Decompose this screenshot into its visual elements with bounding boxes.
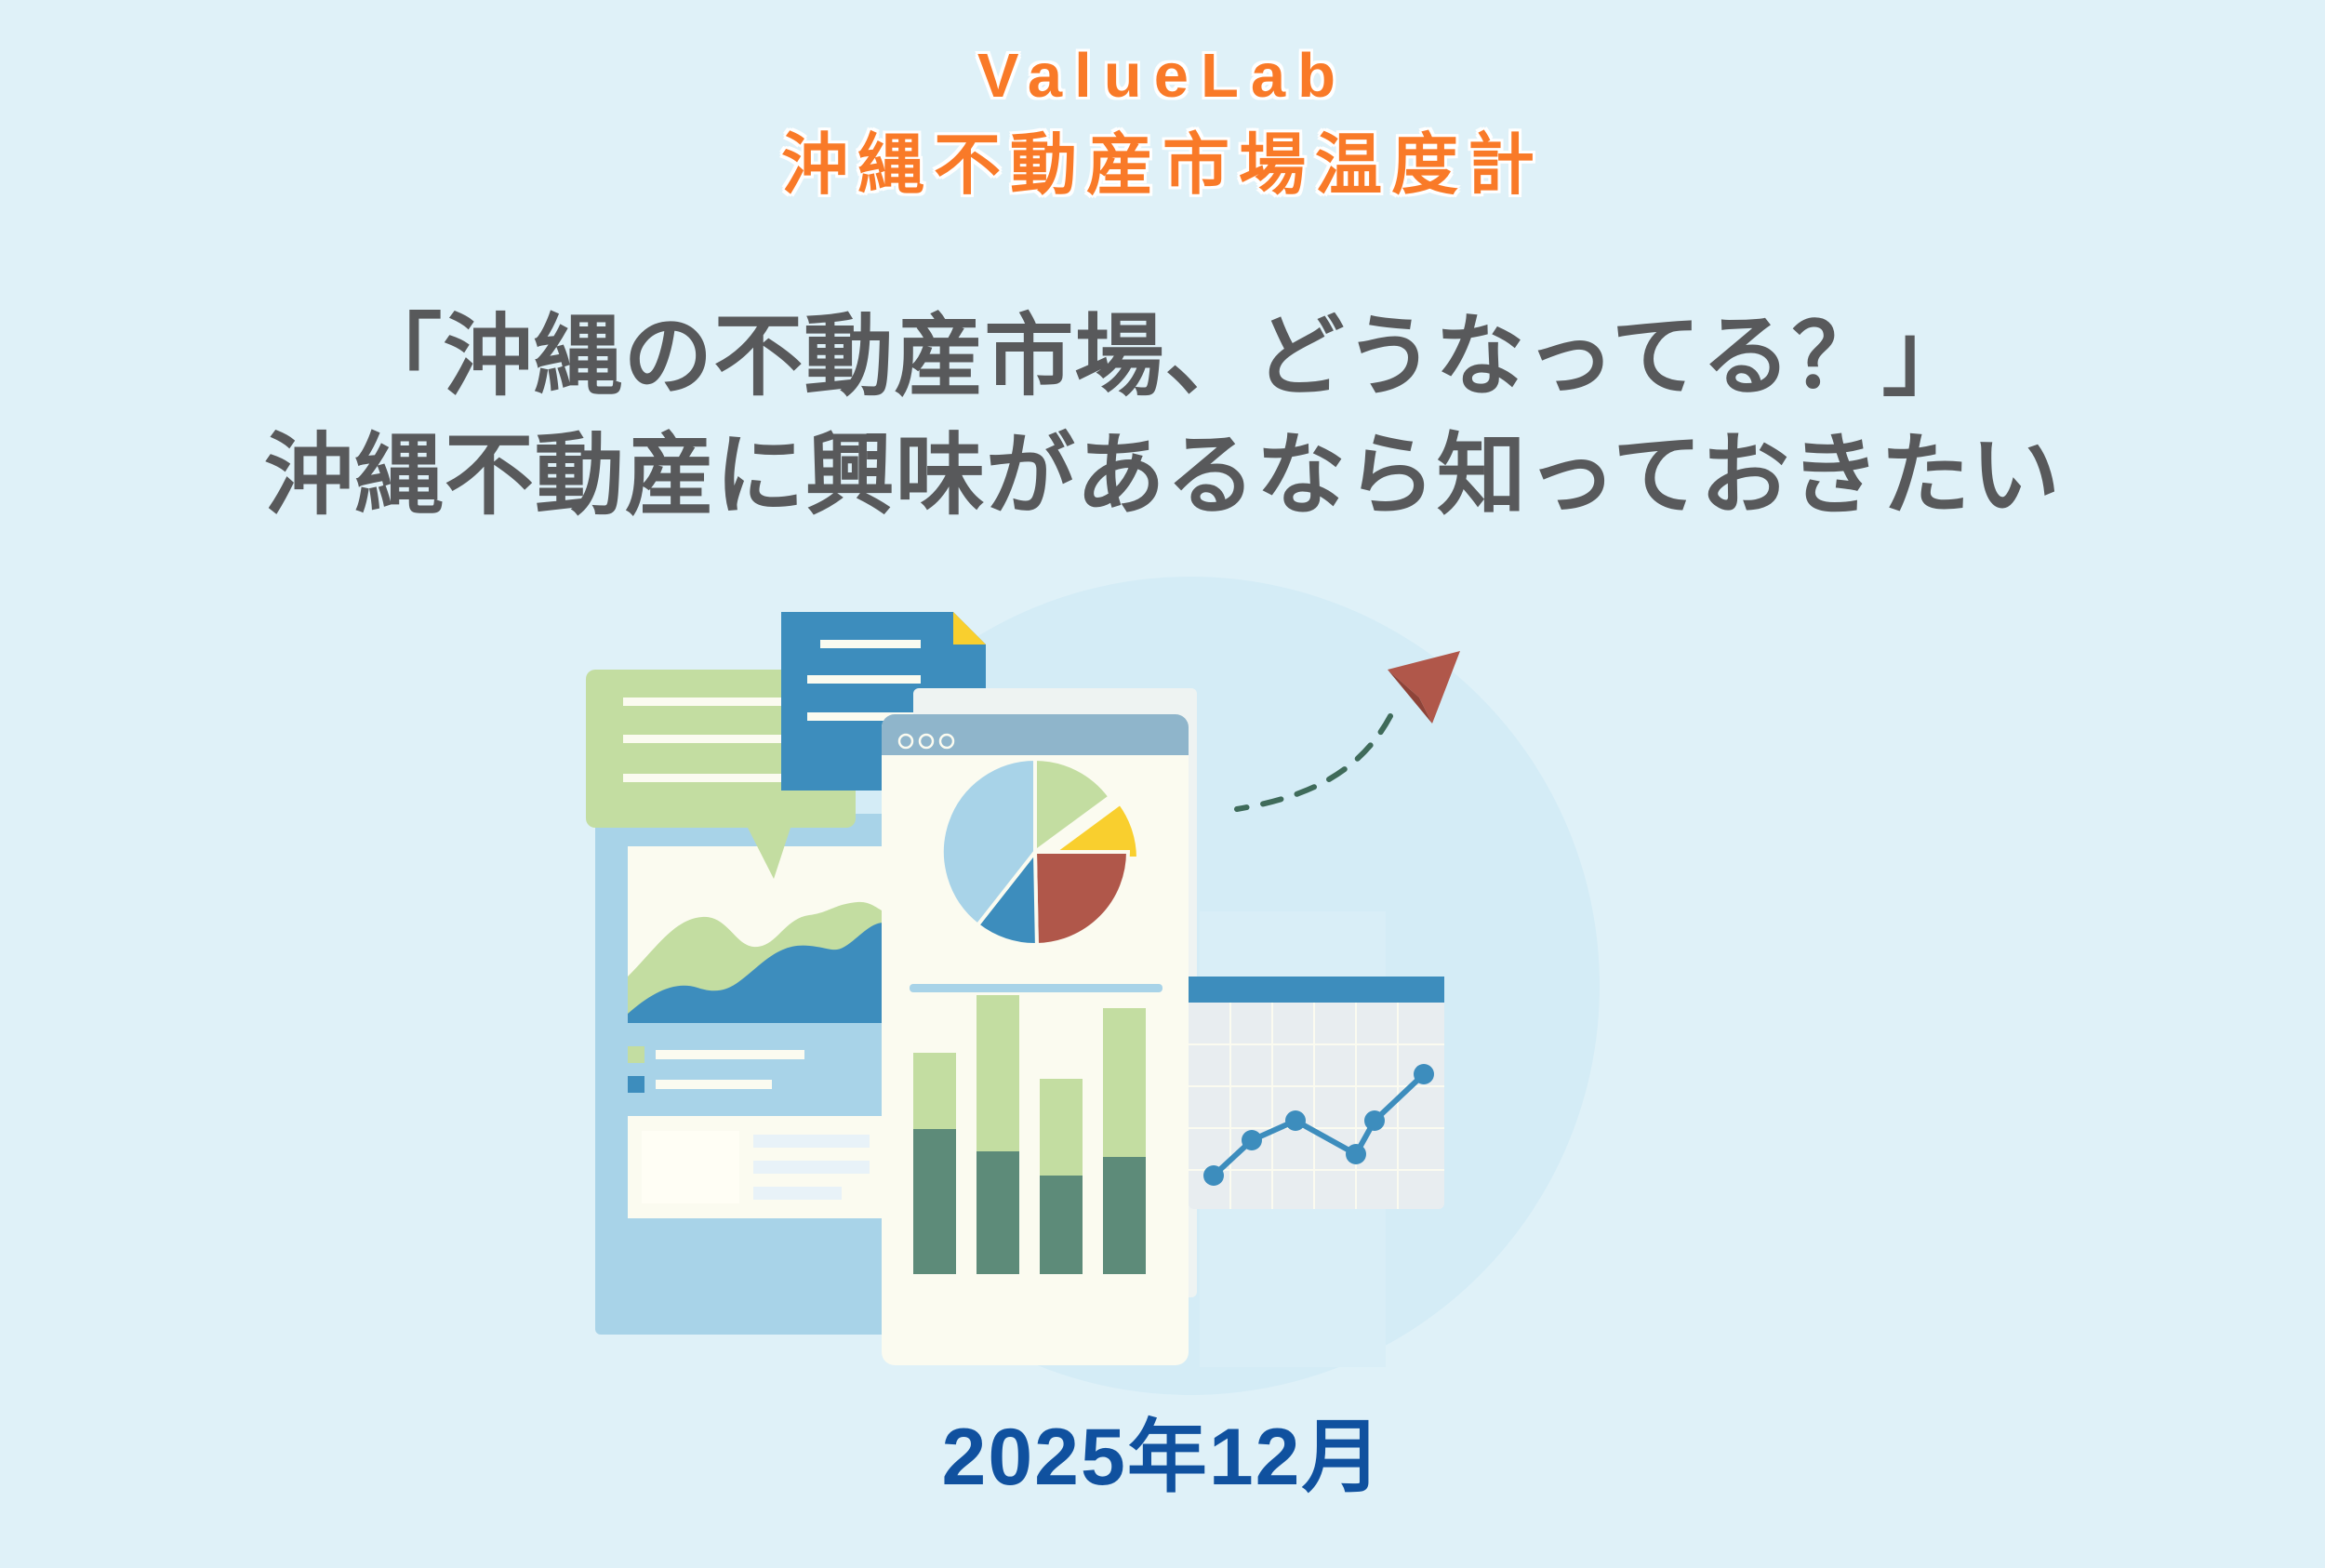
headline-line-1: 「沖縄の不動産市場、どうなってる？」	[0, 298, 2325, 417]
brand-subtitle-jp: 沖縄不動産市場温度計	[0, 132, 2325, 199]
report-document	[882, 688, 1197, 1365]
area-chart-footer-tiles	[628, 1116, 883, 1218]
issue-date: 2025年12月	[0, 1391, 2325, 1508]
line-chart-panel	[1189, 911, 1444, 1367]
data-analytics-illustration	[586, 577, 1739, 1376]
brand-title: ValueLab	[0, 45, 2325, 107]
document-divider	[910, 984, 1162, 992]
headline-line-2: 沖縄不動産に興味があるなら知っておきたい	[0, 417, 2325, 536]
paper-plane-icon	[1388, 651, 1460, 724]
poster-canvas: ValueLab 沖縄不動産市場温度計 「沖縄の不動産市場、どうなってる？」 沖…	[0, 0, 2325, 1568]
area-chart-card	[595, 814, 916, 1335]
page-headline: 「沖縄の不動産市場、どうなってる？」 沖縄不動産に興味があるなら知っておきたい	[0, 298, 2325, 535]
paper-plane-trail	[1237, 716, 1390, 809]
